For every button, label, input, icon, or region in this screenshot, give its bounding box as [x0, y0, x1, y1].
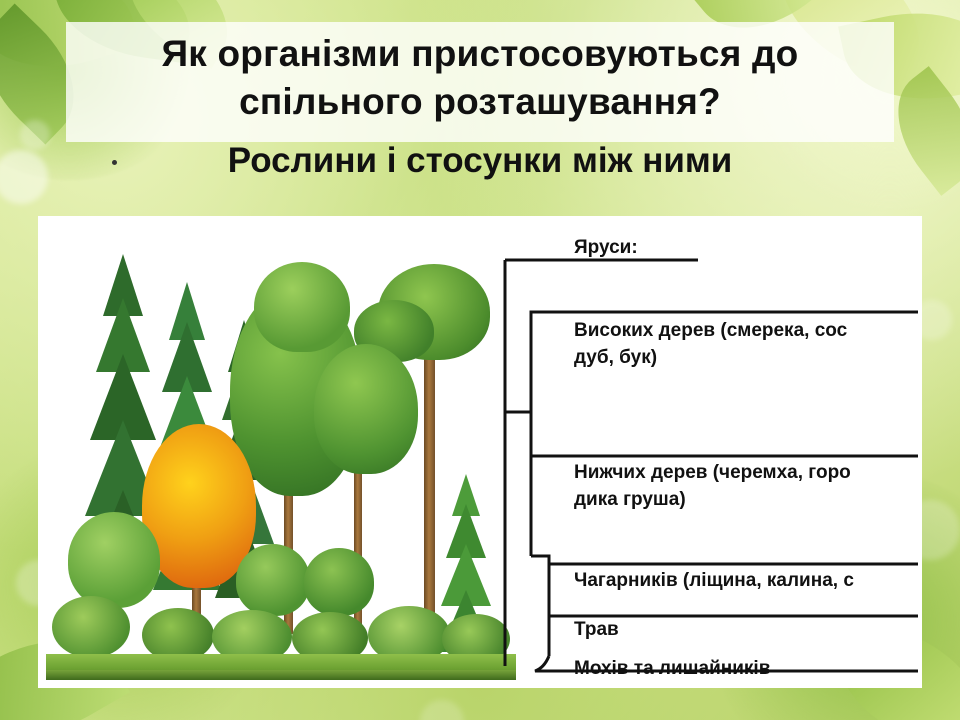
tier-grass-label: Трав [574, 618, 619, 642]
page-title: Як організми пристосовуються до спільног… [66, 30, 894, 126]
tier-brackets [38, 216, 922, 688]
tier-lower-trees-label-line1: Нижчих дерев (черемха, горо [574, 461, 851, 485]
tier-heading-label: Яруси: [574, 236, 638, 260]
bracket-shrubs-vertical [531, 556, 549, 656]
tier-shrubs-label: Чагарників (ліщина, калина, с [574, 569, 854, 593]
tier-lower-trees-label-line2: дика груша) [574, 488, 686, 512]
tier-moss-label: Мохів та лишайників [574, 657, 770, 681]
tier-tall-trees-label-line1: Високих дерев (смерека, сос [574, 319, 847, 343]
page-subtitle: Рослини і стосунки між ними [66, 140, 894, 182]
bokeh-circle [20, 120, 50, 150]
tier-tall-trees-label-line2: дуб, бук) [574, 346, 657, 370]
forest-layers-figure: Яруси: Високих дерев (смерека, сос дуб, … [38, 216, 922, 688]
